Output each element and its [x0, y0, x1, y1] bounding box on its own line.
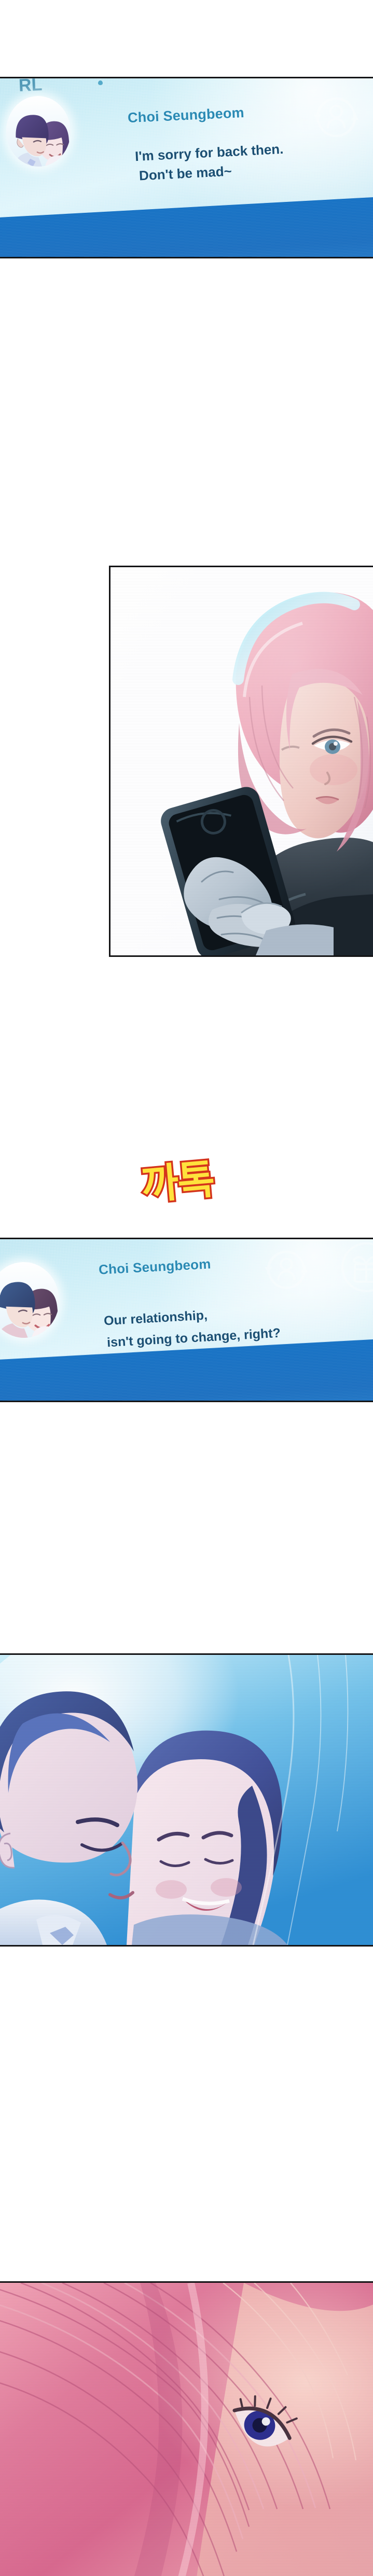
person-sync-icon [307, 88, 365, 146]
person-sync-icon [258, 1241, 314, 1297]
panel-couple-kiss [0, 1653, 373, 1947]
panel-phone-closeup [109, 566, 373, 957]
gift-heart-icon [336, 1238, 373, 1297]
webtoon-strip: RL [0, 0, 373, 2576]
couple-kiss-artwork [0, 1655, 373, 1945]
sound-effect-kakao: 까톡 [139, 1147, 216, 1211]
panel-notification-1: RL [0, 77, 373, 258]
hair-closeup-artwork [0, 2283, 373, 2576]
phone-closeup-artwork [110, 567, 373, 955]
crumb-text: RL [18, 77, 43, 96]
crumb-dot-icon [98, 80, 103, 85]
panel-notification-2: Choi Seungbeom Our relationship, isn't g… [0, 1238, 373, 1402]
panel-hair-closeup [0, 2281, 373, 2576]
